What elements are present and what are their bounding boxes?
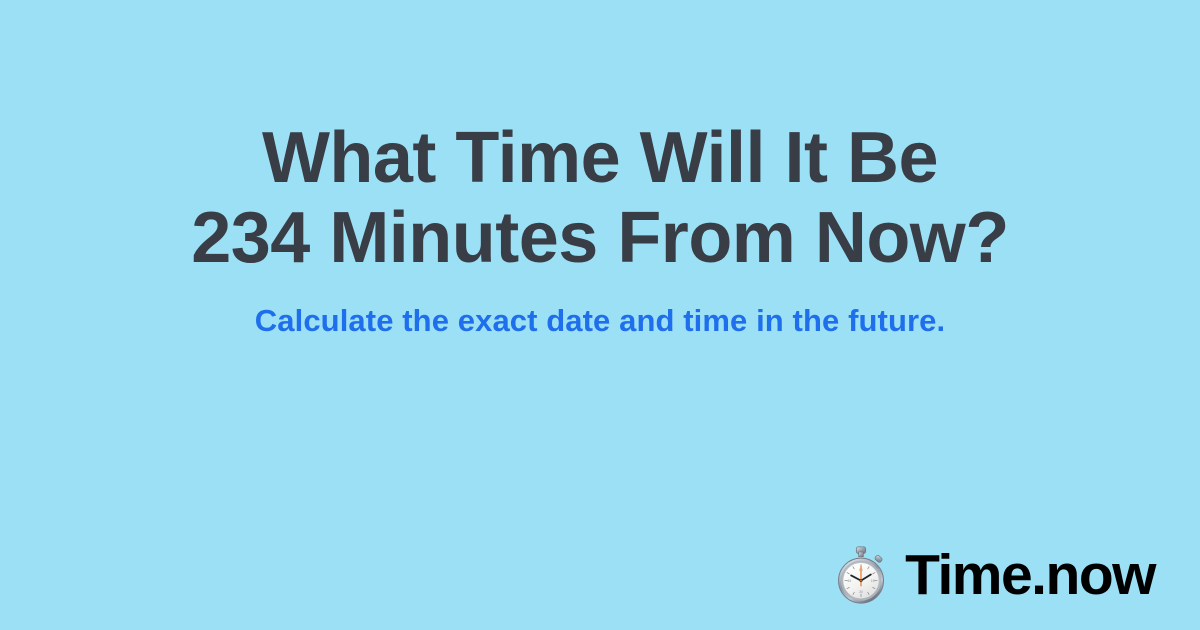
svg-text:45: 45 <box>848 579 852 583</box>
hero-section: What Time Will It Be 234 Minutes From No… <box>0 118 1200 339</box>
page-title-line-1: What Time Will It Be <box>0 118 1200 198</box>
og-card: What Time Will It Be 234 Minutes From No… <box>0 0 1200 630</box>
brand-logo[interactable]: 60 15 30 45 Time.now <box>831 545 1155 605</box>
page-subtitle: Calculate the exact date and time in the… <box>0 278 1200 339</box>
svg-text:30: 30 <box>859 590 863 594</box>
stopwatch-icon: 60 15 30 45 <box>831 545 891 605</box>
brand-name-label: Time.now <box>905 545 1155 605</box>
page-title: What Time Will It Be 234 Minutes From No… <box>0 118 1200 278</box>
page-title-line-2: 234 Minutes From Now? <box>0 198 1200 278</box>
svg-text:15: 15 <box>871 579 875 583</box>
